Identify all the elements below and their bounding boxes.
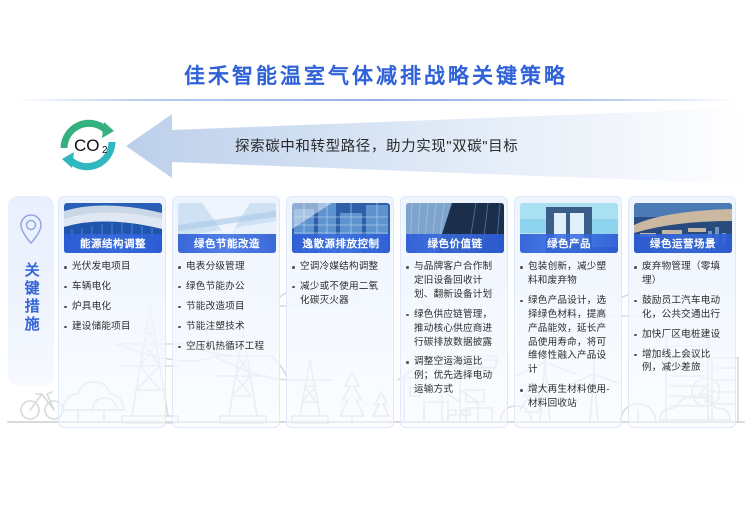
- column-thumbnail-2: 绿色节能改造: [178, 203, 276, 253]
- list-item: 节能注塑技术: [178, 320, 274, 334]
- column-header-4: 绿色价值链: [406, 234, 504, 253]
- column-bullets-6: 废弃物管理（零填埋） 鼓励员工汽车电动化，公共交通出行 加快厂区电桩建设 增加线…: [634, 260, 730, 375]
- column-header-5: 绿色产品: [520, 234, 618, 253]
- infographic-page: 佳禾智能温室气体减排战略关键策略 CO 2 探索碳中和转型路径，助力实现"双碳"…: [0, 0, 752, 530]
- column-thumbnail-1: 能源结构调整: [64, 203, 162, 253]
- list-item: 建设储能项目: [64, 320, 160, 334]
- list-item: 调整空运海运比例；优先选择电动运输方式: [406, 355, 502, 397]
- column-bullets-3: 空调冷媒结构调整 减少或不使用二氧化碳灭火器: [292, 260, 388, 308]
- list-item: 光伏发电项目: [64, 260, 160, 274]
- list-item: 减少或不使用二氧化碳灭火器: [292, 280, 388, 308]
- column-card-6[interactable]: 绿色运营场景 废弃物管理（零填埋） 鼓励员工汽车电动化，公共交通出行 加快厂区电…: [628, 196, 736, 428]
- column-header-1: 能源结构调整: [64, 234, 162, 253]
- column-bullets-5: 包装创新，减少塑料和废弃物 绿色产品设计，选择绿色材料，提高产品能效，延长产品使…: [520, 260, 616, 411]
- column-card-4[interactable]: 绿色价值链 与品牌客户合作制定旧设备回收计划、翻新设备计划 绿色供应链管理，推动…: [400, 196, 508, 428]
- svg-text:2: 2: [102, 145, 108, 156]
- location-pin-icon: [16, 212, 46, 246]
- column-bullets-1: 光伏发电项目 车辆电化 炉具电化 建设储能项目: [64, 260, 160, 334]
- list-item: 空压机热循环工程: [178, 340, 274, 354]
- svg-text:CO: CO: [74, 136, 100, 155]
- column-thumbnail-3: 逸散源排放控制: [292, 203, 390, 253]
- column-thumbnail-5: 绿色产品: [520, 203, 618, 253]
- list-item: 包装创新，减少塑料和废弃物: [520, 260, 616, 288]
- column-thumbnail-4: 绿色价值链: [406, 203, 504, 253]
- list-item: 绿色供应链管理，推动核心供应商进行碳排放数据披露: [406, 308, 502, 350]
- key-measures-sidebar: 关键措施: [8, 196, 54, 386]
- list-item: 空调冷媒结构调整: [292, 260, 388, 274]
- list-item: 炉具电化: [64, 300, 160, 314]
- column-header-6: 绿色运营场景: [634, 234, 732, 253]
- list-item: 增加线上会议比例，减少差旅: [634, 348, 730, 376]
- column-card-3[interactable]: 逸散源排放控制 空调冷媒结构调整 减少或不使用二氧化碳灭火器: [286, 196, 394, 428]
- list-item: 电表分级管理: [178, 260, 274, 274]
- column-header-2: 绿色节能改造: [178, 234, 276, 253]
- column-thumbnail-6: 绿色运营场景: [634, 203, 732, 253]
- column-card-5[interactable]: 绿色产品 包装创新，减少塑料和废弃物 绿色产品设计，选择绿色材料，提高产品能效，…: [514, 196, 622, 428]
- column-card-1[interactable]: 能源结构调整 光伏发电项目 车辆电化 炉具电化 建设储能项目: [58, 196, 166, 428]
- list-item: 增大再生材料使用-材料回收站: [520, 383, 616, 411]
- list-item: 鼓励员工汽车电动化，公共交通出行: [634, 294, 730, 322]
- sidebar-label: 关键措施: [22, 262, 39, 334]
- list-item: 与品牌客户合作制定旧设备回收计划、翻新设备计划: [406, 260, 502, 302]
- co2-recycle-icon: CO 2: [52, 110, 124, 180]
- column-header-3: 逸散源排放控制: [292, 234, 390, 253]
- list-item: 绿色产品设计，选择绿色材料，提高产品能效，延长产品使用寿命，将可维修性融入产品设…: [520, 294, 616, 377]
- title-divider: [14, 99, 738, 101]
- list-item: 车辆电化: [64, 280, 160, 294]
- column-card-2[interactable]: 绿色节能改造 电表分级管理 绿色节能办公 节能改造项目 节能注塑技术 空压机热循…: [172, 196, 280, 428]
- list-item: 加快厂区电桩建设: [634, 328, 730, 342]
- column-bullets-4: 与品牌客户合作制定旧设备回收计划、翻新设备计划 绿色供应链管理，推动核心供应商进…: [406, 260, 502, 397]
- banner-text: 探索碳中和转型路径，助力实现"双碳"目标: [235, 135, 705, 156]
- list-item: 绿色节能办公: [178, 280, 274, 294]
- page-title: 佳禾智能温室气体减排战略关键策略: [0, 60, 752, 90]
- list-item: 废弃物管理（零填埋）: [634, 260, 730, 288]
- list-item: 节能改造项目: [178, 300, 274, 314]
- measures-columns: 能源结构调整 光伏发电项目 车辆电化 炉具电化 建设储能项目 绿色节能改造: [58, 196, 746, 428]
- column-bullets-2: 电表分级管理 绿色节能办公 节能改造项目 节能注塑技术 空压机热循环工程: [178, 260, 274, 354]
